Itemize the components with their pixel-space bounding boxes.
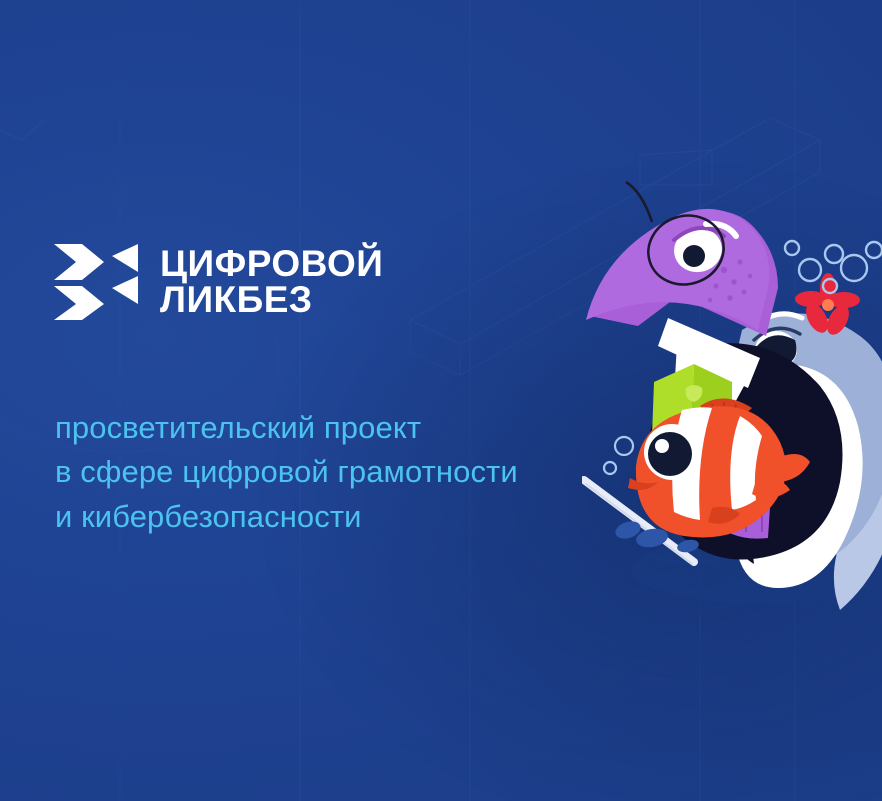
logo-wordmark-group: ЦИФРОВОЙ ЛИКБЕЗ bbox=[160, 246, 383, 319]
promo-banner: ЦИФРОВОЙ ЛИКБЕЗ просветительский проект … bbox=[0, 0, 882, 801]
zigzag-chevron-logo-mark-icon bbox=[52, 242, 140, 322]
logo[interactable]: ЦИФРОВОЙ ЛИКБЕЗ bbox=[52, 242, 383, 322]
background-fill bbox=[0, 0, 882, 801]
tagline-text: просветительский проект в сфере цифровой… bbox=[55, 406, 655, 539]
logo-wordmark: ЦИФРОВОЙ ЛИКБЕЗ bbox=[160, 246, 383, 319]
